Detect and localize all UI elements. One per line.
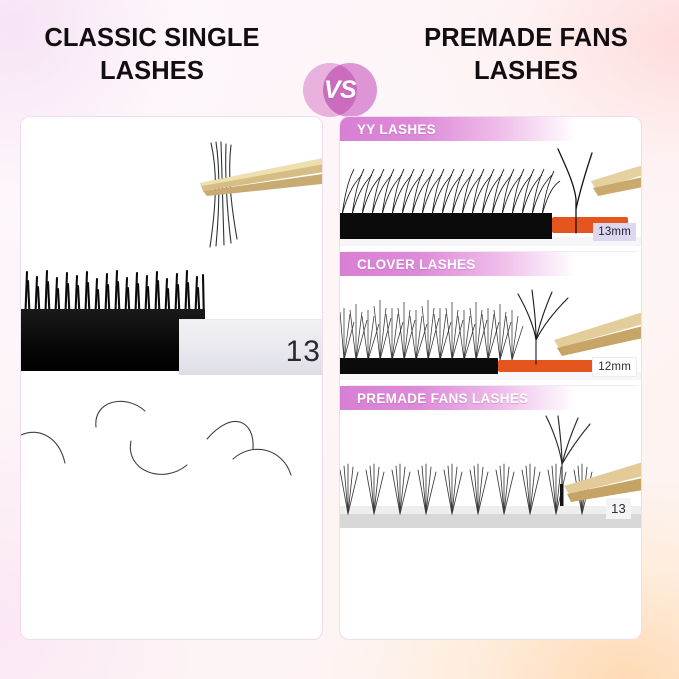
tray-length-label: 13 — [286, 335, 321, 369]
premade-fan-tray-icon — [340, 410, 642, 535]
vs-label: VS — [303, 63, 377, 117]
row-yy-lashes: YY LASHES — [340, 117, 642, 252]
classic-lash-photo: 13 — [21, 117, 323, 379]
row-label-clover-text: CLOVER LASHES — [340, 257, 476, 272]
measurement-tray: 13 — [179, 319, 323, 375]
clover-measure-badge: 12mm — [592, 357, 637, 377]
clover-lashes-image: 12mm — [340, 276, 642, 386]
premade-measure-badge: 13 — [606, 498, 631, 519]
row-label-premade-text: PREMADE FANS LASHES — [340, 391, 528, 406]
classic-lash-strip-icon — [21, 271, 205, 371]
page-title-left: CLASSIC SINGLE LASHES — [16, 22, 288, 88]
comparison-infographic: CLASSIC SINGLE LASHES VS PREMADE FANS LA… — [0, 0, 679, 679]
row-label-clover: CLOVER LASHES — [340, 252, 642, 276]
left-panel: 13 — [20, 116, 323, 640]
lash-base-band — [21, 309, 205, 371]
row-label-yy: YY LASHES — [340, 117, 642, 141]
row-clover-lashes: CLOVER LASHES — [340, 252, 642, 386]
individual-lash-curves — [21, 379, 323, 579]
vs-badge: VS — [303, 63, 377, 117]
page-title-right: PREMADE FANS LASHES — [390, 22, 662, 88]
row-label-premade: PREMADE FANS LASHES — [340, 386, 642, 410]
tweezer-with-single-lashes-icon — [197, 139, 323, 251]
header: CLASSIC SINGLE LASHES VS PREMADE FANS LA… — [0, 22, 679, 100]
row-premade-fans-lashes: PREMADE FANS LASHES — [340, 386, 642, 535]
curved-lashes-icon — [21, 379, 323, 579]
right-panel: YY LASHES — [339, 116, 642, 640]
yy-lashes-image: 13mm — [340, 141, 642, 252]
row-label-yy-text: YY LASHES — [340, 122, 436, 137]
yy-measure-badge: 13mm — [593, 223, 636, 241]
premade-fans-image: 13 — [340, 410, 642, 535]
